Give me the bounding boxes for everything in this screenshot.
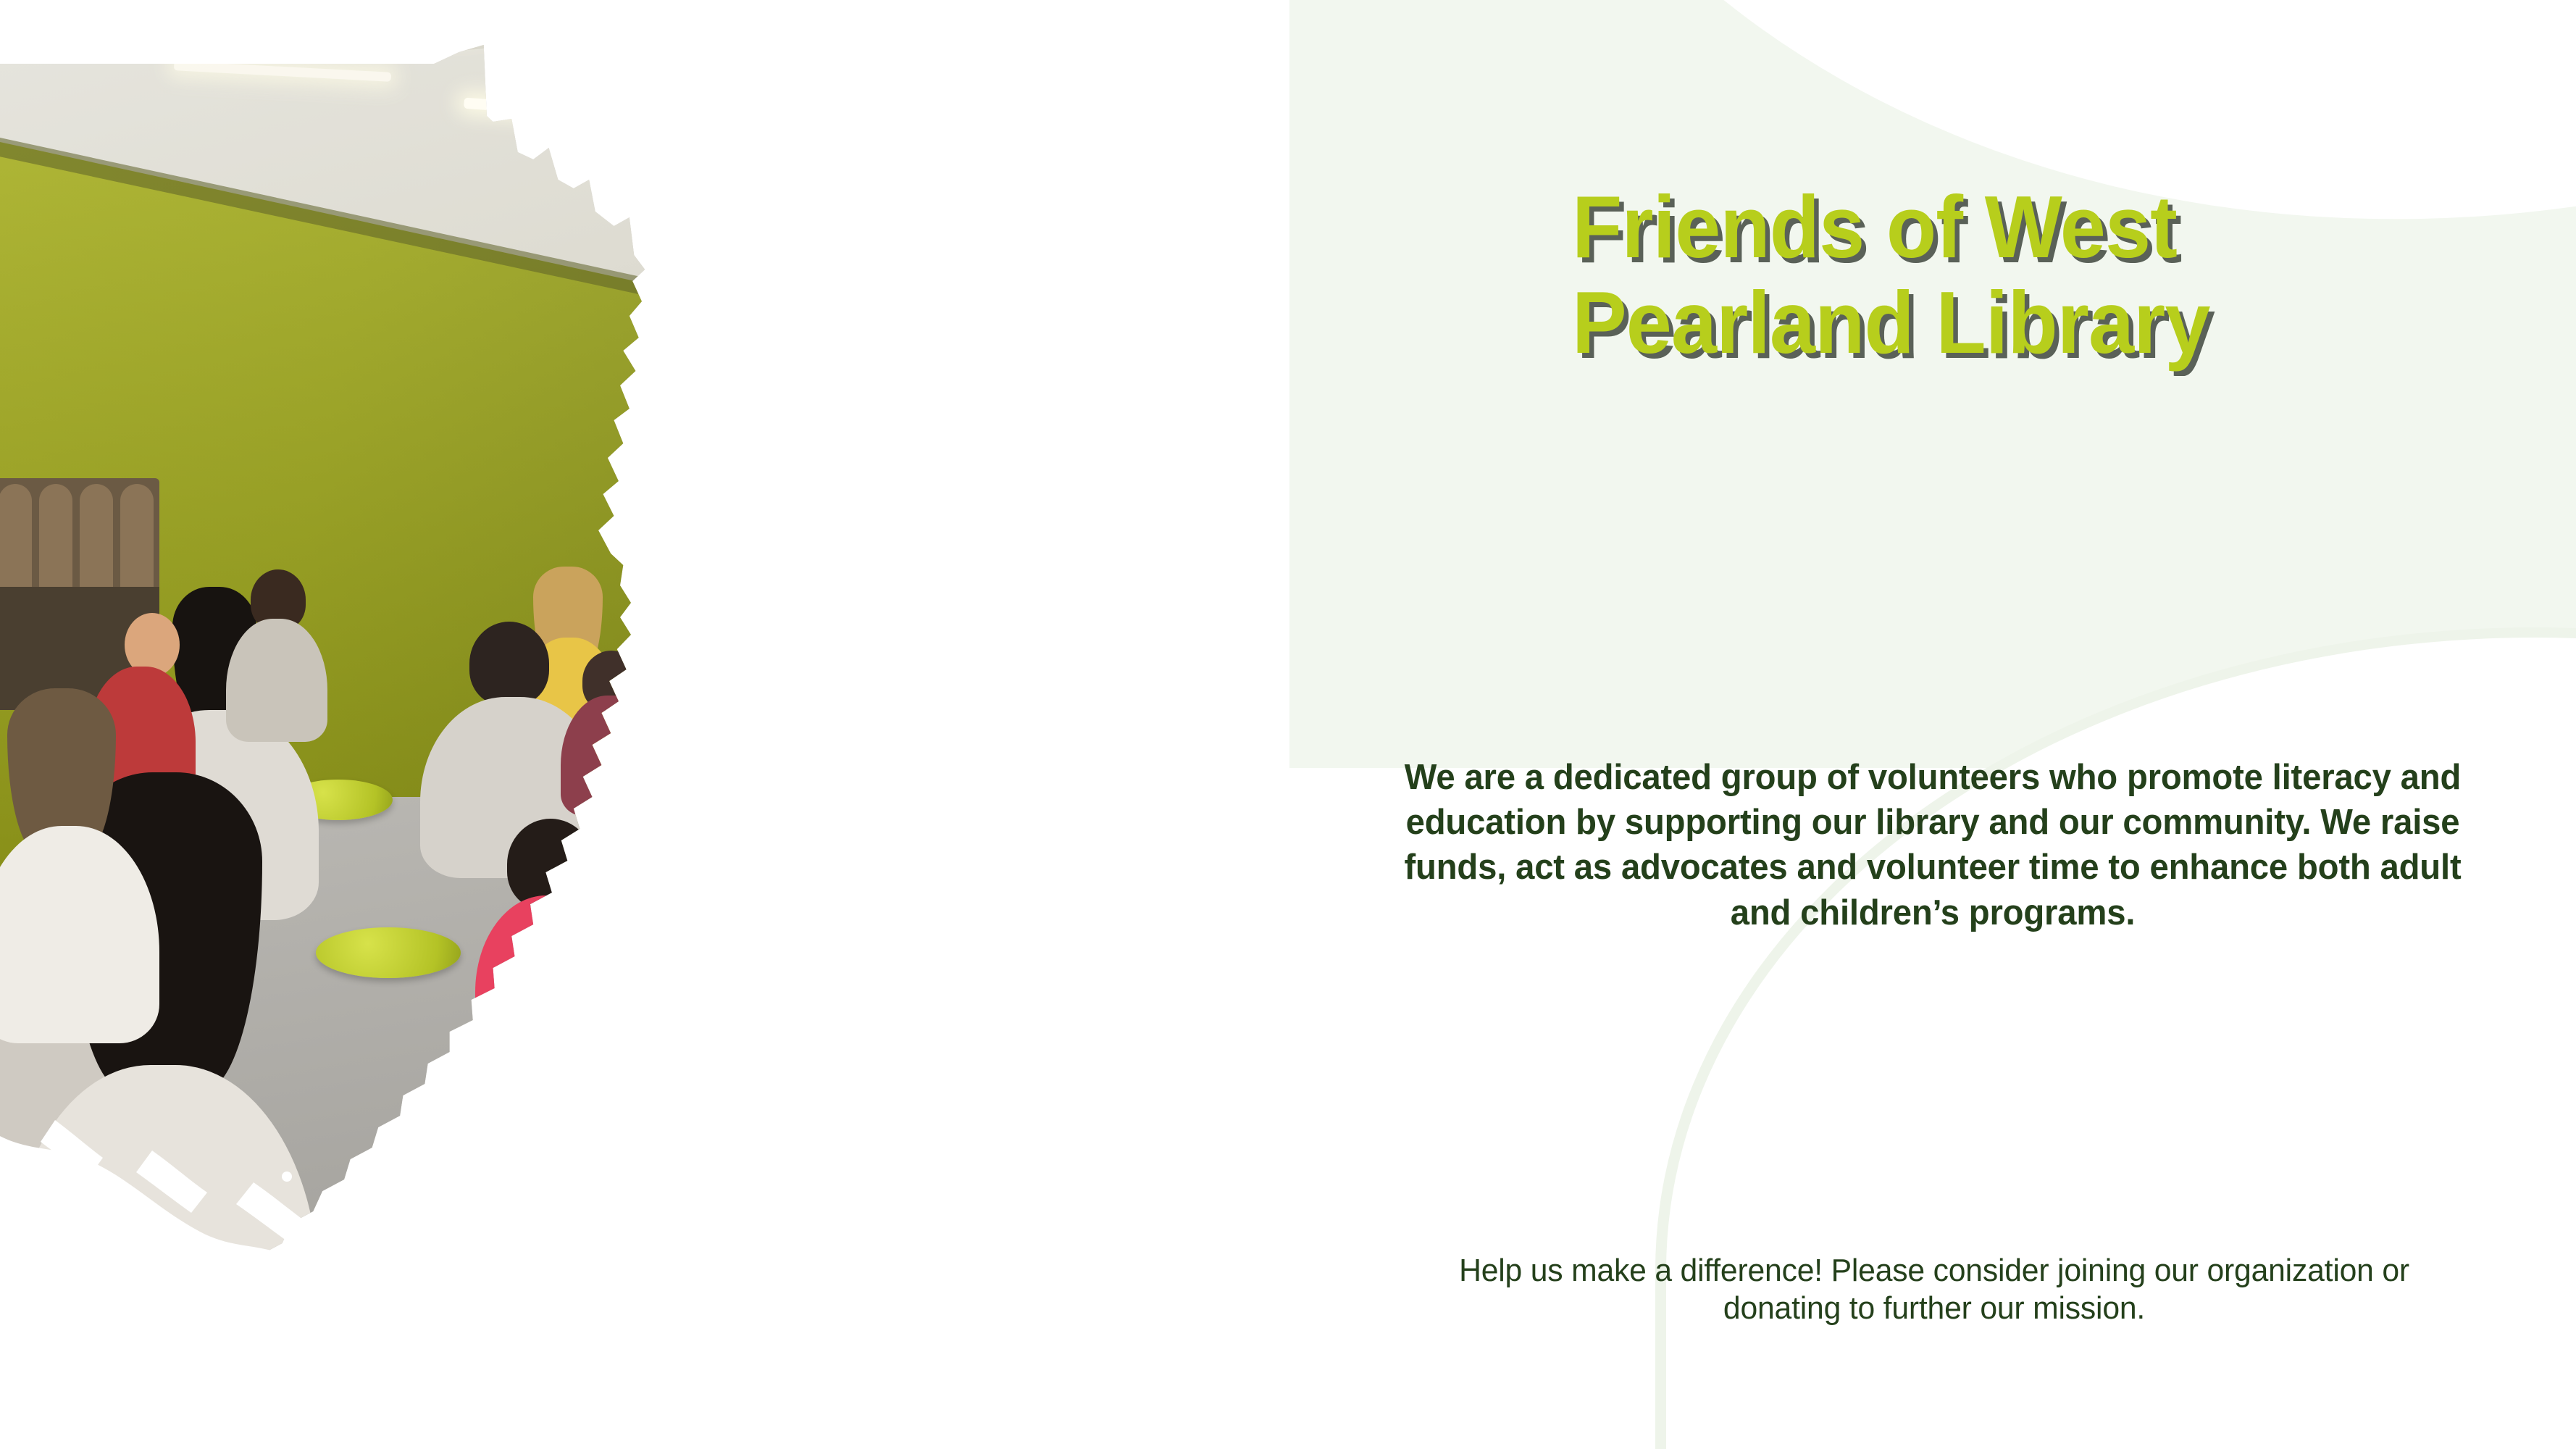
floor-tile: [925, 793, 1184, 909]
head: [855, 559, 913, 626]
floor-cushion: [423, 1077, 580, 1130]
mission-statement: We are a dedicated group of volunteers w…: [1402, 755, 2464, 935]
torso: [910, 878, 1087, 1095]
window-pane: [768, 167, 924, 327]
screen-cloud-shape: [1054, 330, 1328, 493]
hair: [982, 616, 1076, 758]
floor-tile: [1020, 1061, 1327, 1199]
torso: [585, 911, 781, 1143]
floor-tile: [697, 1184, 1041, 1338]
orange-bag: [934, 990, 1043, 1068]
window-pane: [936, 143, 1092, 302]
hair: [863, 780, 972, 961]
head: [1092, 674, 1143, 732]
torso: [684, 1072, 961, 1413]
book-display-stand: [1192, 590, 1234, 656]
torso: [866, 955, 1000, 1107]
presenter-arm: [905, 627, 950, 725]
floor-cushion: [316, 927, 461, 978]
presenter-skirt: [933, 746, 1026, 920]
presenter-hair-back: [932, 500, 1016, 645]
ceiling-light-icon: [898, 7, 1116, 33]
floor-tile: [817, 938, 1132, 1077]
cloud-bump: [1210, 462, 1280, 505]
screen-caption-line2: Book!: [1057, 395, 1325, 431]
title-line-1: Friends of West: [1572, 183, 2506, 271]
torso: [1065, 723, 1174, 853]
face-mask-icon: [946, 494, 991, 523]
torso: [7, 1065, 319, 1449]
water-bottle: [672, 811, 714, 901]
presenter-jacket: [921, 535, 1032, 755]
ceiling-light-icon: [695, 26, 898, 54]
desk-remote: [1188, 646, 1281, 664]
floor-cushion: [635, 898, 768, 945]
slide-canvas: Time For a Book!: [0, 0, 2576, 1449]
hair: [469, 622, 549, 706]
content-panel: Friends of West Pearland Library We are …: [1289, 0, 2576, 1449]
window-mullion: [1259, 117, 1269, 264]
window-mullion: [923, 163, 933, 309]
torso: [475, 895, 629, 1062]
cloud-bump: [1138, 466, 1213, 505]
hair: [507, 819, 594, 910]
screen-caption: Time For a Book!: [1057, 359, 1325, 431]
hair: [635, 777, 736, 943]
head: [898, 891, 963, 964]
ceiling-light-icon: [449, 0, 688, 34]
torso: [956, 710, 1101, 869]
hair: [523, 935, 658, 1080]
floor-cushion: [814, 849, 923, 888]
wall-sign: [882, 540, 929, 576]
torso: [811, 613, 962, 794]
ceiling-light-icon: [790, 79, 1050, 117]
title-line-2: Pearland Library: [1572, 278, 2506, 367]
shelf-arch: [39, 484, 72, 593]
torso: [461, 1043, 714, 1398]
cloud-bump: [1067, 462, 1137, 505]
floor-box-icon: [1203, 724, 1243, 759]
hair: [956, 746, 1049, 897]
floor-tile: [619, 822, 903, 945]
wall-column: [737, 114, 764, 622]
floor-cushion: [606, 743, 703, 780]
torso: [561, 696, 662, 816]
window-mullion: [1091, 140, 1101, 286]
floor-cushion: [740, 749, 833, 784]
water-bottle: [729, 817, 766, 897]
screen-foliage: [1029, 318, 1102, 375]
side-window: [685, 230, 739, 368]
cloud-bump: [1041, 379, 1092, 443]
laptop-icon: [1066, 579, 1161, 669]
presenter-hair: [934, 443, 1010, 552]
hair: [966, 895, 1046, 972]
picture-book-icon: [861, 621, 955, 706]
screen-caption-line1: Time For a: [1057, 359, 1325, 395]
shelf-arch: [80, 484, 113, 593]
window-pane: [1104, 120, 1260, 279]
torso: [824, 916, 1013, 1133]
call-to-action-text: Help us make a difference! Please consid…: [1414, 1252, 2454, 1327]
screen-cable: [1257, 507, 1271, 710]
laptop-base: [1062, 655, 1172, 672]
table-leg: [1057, 681, 1071, 924]
torso: [933, 958, 1078, 1114]
torso: [685, 613, 794, 780]
floor-cable: [1152, 746, 1176, 941]
presenter-face: [949, 468, 995, 520]
hair: [708, 555, 774, 625]
floor-tile: [511, 1010, 837, 1156]
torso: [226, 619, 327, 742]
hair: [740, 875, 892, 1114]
backpack: [1036, 1175, 1137, 1298]
shelf-arch: [0, 484, 32, 593]
shelf-arch: [120, 484, 154, 593]
page-title: Friends of West Pearland Library: [1289, 183, 2576, 367]
